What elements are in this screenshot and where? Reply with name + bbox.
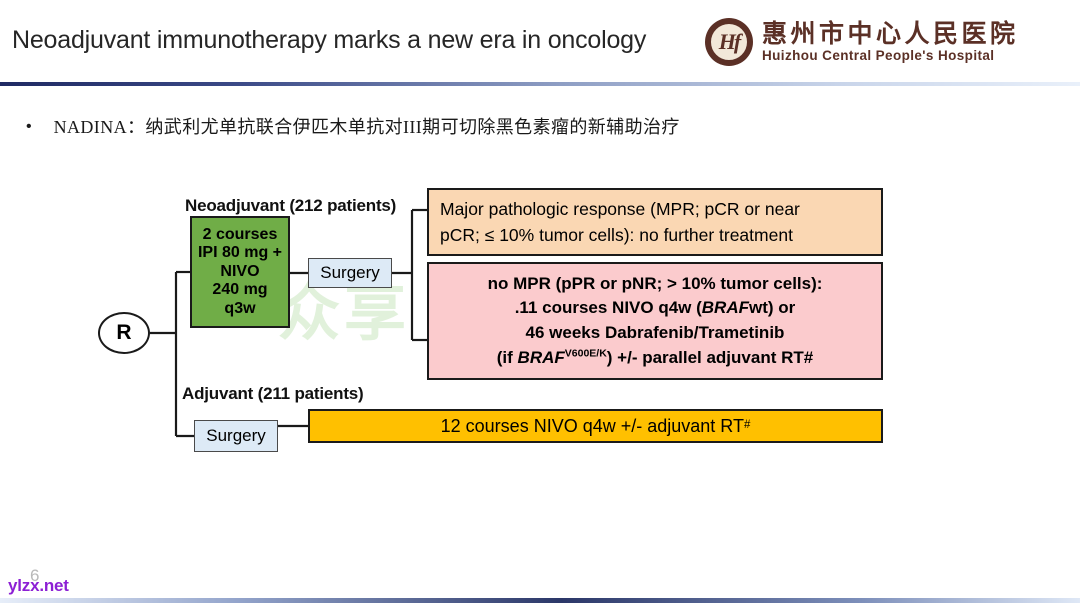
adjuvant-regimen-text: 12 courses NIVO q4w +/- adjuvant RT bbox=[441, 416, 744, 437]
no-mpr-line-4: (if BRAFV600E/K) +/- parallel adjuvant R… bbox=[497, 346, 813, 371]
no-mpr-line-2: .11 courses NIVO q4w (BRAFwt) or bbox=[515, 296, 796, 321]
neoadjuvant-regimen-text: 2 courses IPI 80 mg + NIVO 240 mg q3w bbox=[198, 226, 282, 319]
surgery-box-adjuvant: Surgery bbox=[194, 420, 278, 452]
site-watermark: ylzx.net bbox=[8, 576, 69, 596]
adjuvant-regimen-box: 12 courses NIVO q4w +/- adjuvant RT# bbox=[308, 409, 883, 443]
mpr-outcome-box: Major pathologic response (MPR; pCR or n… bbox=[427, 188, 883, 256]
no-mpr-line-4-suffix: ) +/- parallel adjuvant RT# bbox=[607, 348, 813, 367]
no-mpr-line-4-prefix: (if bbox=[497, 348, 518, 367]
no-mpr-outcome-box: no MPR (pPR or pNR; > 10% tumor cells): … bbox=[427, 262, 883, 380]
randomization-node: R bbox=[98, 312, 150, 354]
braf-mutation-superscript: V600E/K bbox=[565, 347, 607, 359]
emblem-monogram: Hf bbox=[719, 31, 739, 53]
arm-label-adjuvant: Adjuvant (211 patients) bbox=[182, 384, 364, 404]
mpr-line-2: pCR; ≤ 10% tumor cells): no further trea… bbox=[440, 222, 870, 248]
footer-divider bbox=[0, 598, 1080, 603]
slide-canvas: Neoadjuvant immunotherapy marks a new er… bbox=[0, 0, 1080, 608]
surgery-box-neoadjuvant: Surgery bbox=[308, 258, 392, 288]
trial-design-diagram: Neoadjuvant (212 patients) Adjuvant (211… bbox=[0, 0, 1080, 608]
no-mpr-line-1: no MPR (pPR or pNR; > 10% tumor cells): bbox=[488, 272, 823, 297]
no-mpr-line-3: 46 weeks Dabrafenib/Trametinib bbox=[526, 321, 785, 346]
neoadjuvant-regimen-box: 2 courses IPI 80 mg + NIVO 240 mg q3w bbox=[190, 216, 290, 328]
no-mpr-line-2-suffix: wt) or bbox=[749, 298, 795, 317]
arm-label-neoadjuvant: Neoadjuvant (212 patients) bbox=[185, 196, 396, 216]
adjuvant-regimen-footnote-marker: # bbox=[744, 419, 750, 432]
braf-gene-italic-2: BRAF bbox=[518, 348, 565, 367]
braf-gene-italic: BRAF bbox=[702, 298, 749, 317]
no-mpr-line-2-prefix: .11 courses NIVO q4w ( bbox=[515, 298, 702, 317]
mpr-line-1: Major pathologic response (MPR; pCR or n… bbox=[440, 196, 870, 222]
